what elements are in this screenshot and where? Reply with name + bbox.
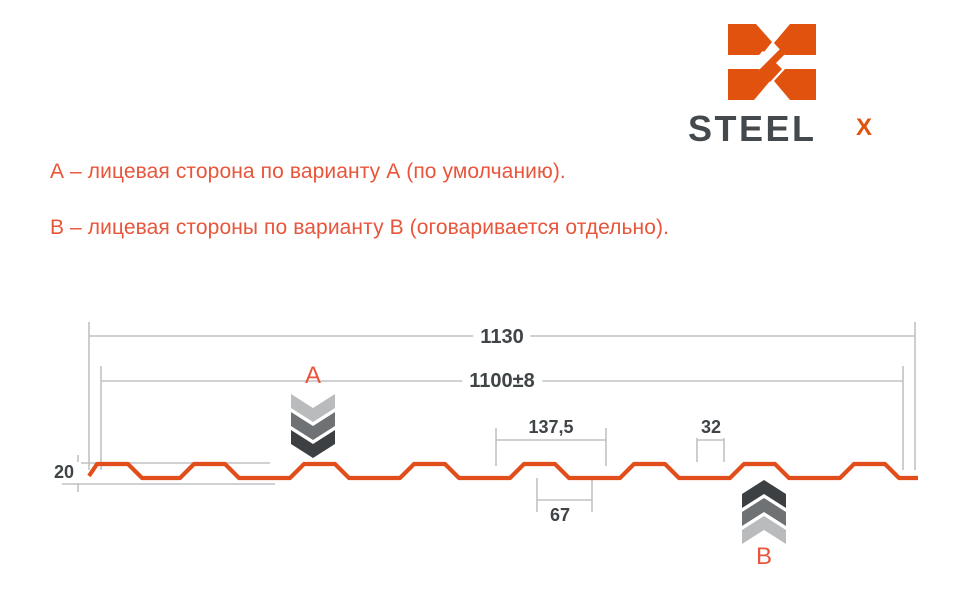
variant-a-chevron-arrow: [291, 394, 335, 458]
dimension-label-rib-pitch: 137,5: [521, 417, 580, 438]
product-spec-sheet: STEEL X А – лицевая сторона по варианту …: [0, 0, 970, 597]
variant-b-letter: В: [756, 543, 772, 571]
corrugated-profile-path: [89, 464, 918, 478]
dimension-label-rib-top-width: 32: [694, 417, 728, 438]
variant-b-chevron-arrow: [742, 480, 786, 544]
dimension-label-valley-width: 67: [543, 505, 577, 526]
variant-a-letter: А: [305, 362, 321, 390]
dimension-label-profile-height: 20: [47, 462, 81, 483]
dimension-lines: [62, 322, 915, 512]
profile-technical-drawing: [0, 0, 970, 597]
dimension-label-overall-width: 1130: [473, 326, 530, 349]
dimension-label-useful-width: 1100±8: [462, 370, 542, 393]
